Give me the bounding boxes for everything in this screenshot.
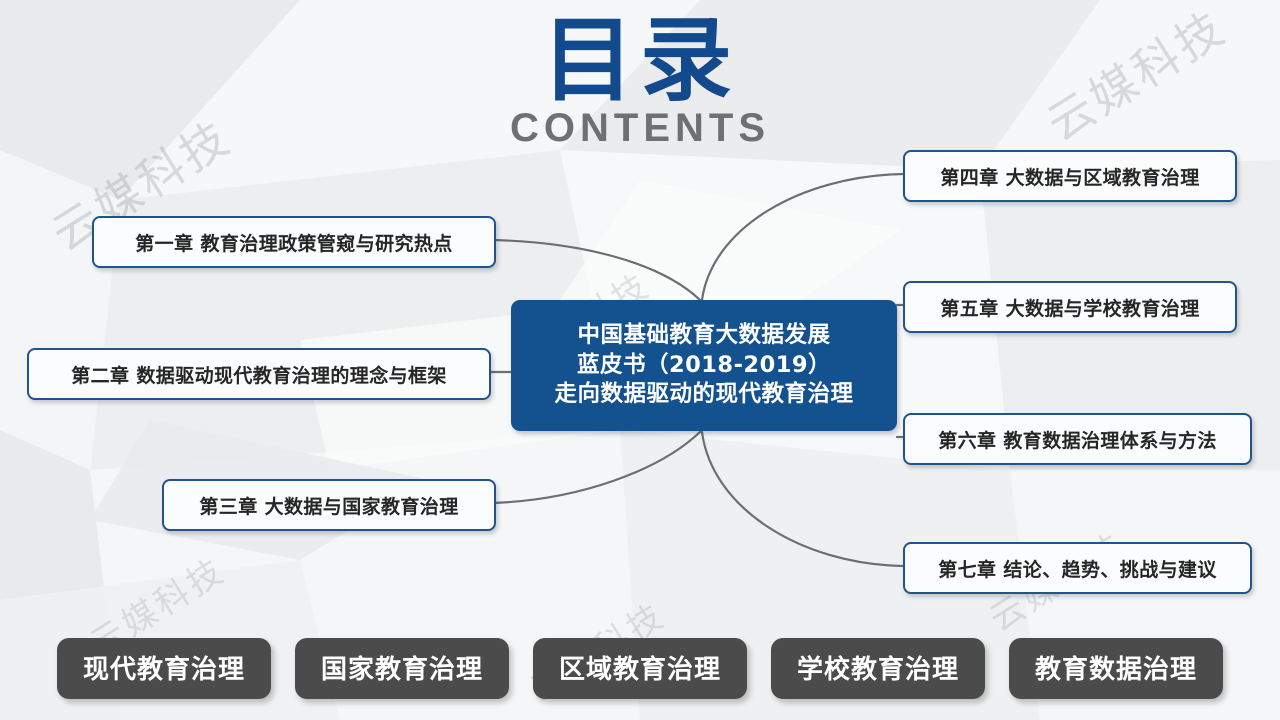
page-subtitle: CONTENTS — [0, 106, 1280, 151]
chapter-label: 第四章 大数据与区域教育治理 — [940, 163, 1199, 190]
page-title: 目录 — [0, 14, 1280, 108]
chapter-label: 第七章 结论、趋势、挑战与建议 — [938, 555, 1217, 582]
chapter-box-2[interactable]: 第二章 数据驱动现代教育治理的理念与框架 — [27, 348, 491, 400]
chapter-label: 第五章 大数据与学校教育治理 — [940, 294, 1199, 321]
page-header: 目录 CONTENTS — [0, 14, 1280, 151]
tag-item-4[interactable]: 学校教育治理 — [771, 638, 985, 699]
slide-contents-page: 云媒科技 云媒科技 云媒科技 云媒科技 云媒科技 云媒科技 目录 CONTENT… — [0, 0, 1280, 720]
connector-chapter-1 — [492, 240, 700, 300]
tag-item-1[interactable]: 现代教育治理 — [57, 638, 271, 699]
tag-bar: 现代教育治理 国家教育治理 区域教育治理 学校教育治理 教育数据治理 — [0, 617, 1280, 720]
center-node[interactable]: 中国基础教育大数据发展 蓝皮书（2018-2019） 走向数据驱动的现代教育治理 — [511, 300, 897, 431]
center-node-line-3: 走向数据驱动的现代教育治理 — [554, 380, 853, 410]
chapter-label: 第二章 数据驱动现代教育治理的理念与框架 — [71, 361, 447, 388]
chapter-box-7[interactable]: 第七章 结论、趋势、挑战与建议 — [903, 542, 1252, 594]
connector-chapter-3 — [492, 432, 700, 503]
connector-chapter-4 — [702, 174, 903, 300]
center-node-line-1: 中国基础教育大数据发展 — [577, 321, 830, 351]
chapter-box-1[interactable]: 第一章 教育治理政策管窥与研究热点 — [92, 216, 496, 268]
chapter-box-3[interactable]: 第三章 大数据与国家教育治理 — [162, 479, 496, 531]
tag-item-5[interactable]: 教育数据治理 — [1009, 638, 1223, 699]
chapter-box-5[interactable]: 第五章 大数据与学校教育治理 — [903, 281, 1237, 333]
tag-item-3[interactable]: 区域教育治理 — [533, 638, 747, 699]
chapter-label: 第六章 教育数据治理体系与方法 — [938, 426, 1217, 453]
chapter-label: 第三章 大数据与国家教育治理 — [199, 492, 458, 519]
center-node-line-2: 蓝皮书（2018-2019） — [577, 351, 831, 381]
chapter-label: 第一章 教育治理政策管窥与研究热点 — [135, 229, 452, 256]
chapter-box-6[interactable]: 第六章 教育数据治理体系与方法 — [903, 413, 1252, 465]
chapter-box-4[interactable]: 第四章 大数据与区域教育治理 — [903, 150, 1237, 202]
connector-chapter-7 — [702, 432, 903, 566]
tag-item-2[interactable]: 国家教育治理 — [295, 638, 509, 699]
